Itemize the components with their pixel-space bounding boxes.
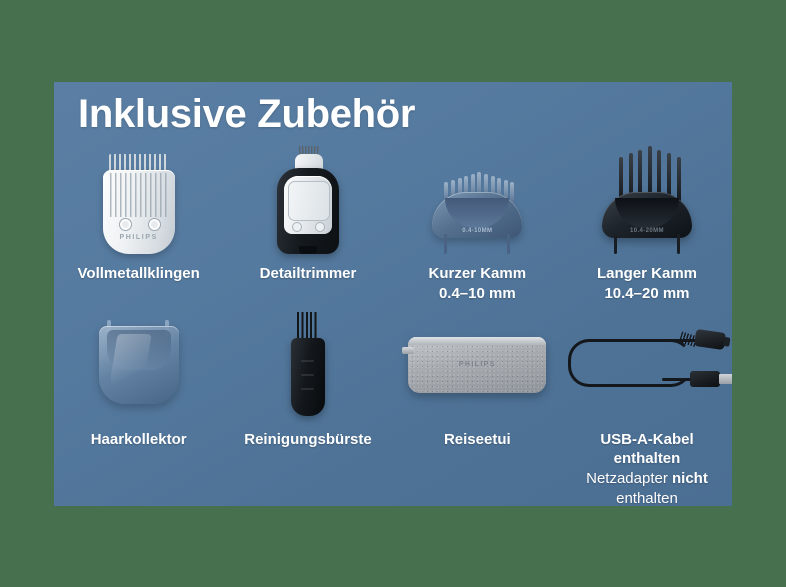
accessory-item-usb-kabel: USB-A-Kabel enthalten Netzadapter nicht … bbox=[562, 308, 732, 506]
blade-mount-hole-left bbox=[119, 218, 132, 231]
accessory-caption: Langer Kamm 10.4–20 mm bbox=[593, 264, 701, 304]
cleaning-brush-icon bbox=[223, 308, 392, 420]
accessory-item-detailtrimmer: Detailtrimmer bbox=[223, 142, 392, 304]
usb-cable-icon bbox=[562, 308, 732, 420]
accessory-caption: Haarkollektor bbox=[87, 430, 191, 450]
accessory-item-vollmetallklingen: PHILIPS Vollmetallklingen bbox=[54, 142, 223, 304]
cable-lead-bottom bbox=[662, 378, 692, 381]
comb-leg-left bbox=[444, 234, 447, 254]
accessory-caption: Kurzer Kamm 0.4–10 mm bbox=[425, 264, 531, 304]
blade-brand-text: PHILIPS bbox=[103, 234, 175, 241]
accessory-caption-line1: Kurzer Kamm bbox=[429, 265, 527, 282]
trimmer-mount-hole-right bbox=[315, 222, 325, 232]
device-connector bbox=[694, 329, 726, 350]
accessory-item-haarkollektor: Haarkollektor bbox=[54, 308, 223, 506]
brush-handle bbox=[291, 338, 325, 416]
accessory-item-reinigungsbuerste: Reinigungsbürste bbox=[223, 308, 392, 506]
case-brand-text: PHILIPS bbox=[402, 361, 552, 368]
accessory-caption-line2: 10.4–20 mm bbox=[604, 285, 689, 302]
comb-leg-right bbox=[507, 234, 510, 254]
accessory-panel: Inklusive Zubehör PHILIPS Vollmetallklin… bbox=[54, 82, 732, 506]
accessory-item-reiseetui: PHILIPS Reiseetui bbox=[393, 308, 562, 506]
usb-a-plug bbox=[690, 371, 720, 387]
case-zipper-pull bbox=[402, 347, 414, 354]
accessory-caption-line2: 0.4–10 mm bbox=[439, 285, 516, 302]
short-comb-icon: 0.4-10MM bbox=[393, 142, 562, 254]
page-title: Inklusive Zubehör bbox=[78, 92, 415, 137]
comb-leg-right bbox=[677, 234, 680, 254]
accessory-grid: PHILIPS Vollmetallklingen bbox=[54, 142, 732, 506]
accessory-caption-line1: Langer Kamm bbox=[597, 265, 697, 282]
usb-caption-emphasis: nicht bbox=[672, 470, 708, 487]
blade-icon: PHILIPS bbox=[54, 142, 223, 254]
case-zipper bbox=[408, 337, 546, 345]
accessory-caption: USB-A-Kabel enthalten Netzadapter nicht … bbox=[562, 430, 732, 506]
trimmer-foot bbox=[299, 246, 317, 254]
accessory-infographic: Inklusive Zubehör PHILIPS Vollmetallklin… bbox=[0, 0, 786, 587]
brush-ridge bbox=[301, 374, 314, 376]
accessory-item-langer-kamm: 10.4-20MM Langer Kamm 10.4–20 mm bbox=[562, 142, 732, 304]
usb-caption-line2-suffix: enthalten bbox=[616, 490, 678, 506]
usb-caption-line1: USB-A-Kabel enthalten bbox=[600, 431, 693, 468]
accessory-caption: Reinigungsbürste bbox=[240, 430, 376, 450]
hair-collector-icon bbox=[54, 308, 223, 420]
long-comb-icon: 10.4-20MM bbox=[562, 142, 732, 254]
blade-slots bbox=[110, 173, 168, 217]
comb-molded-label: 10.4-20MM bbox=[598, 228, 696, 234]
blade-mount-hole-right bbox=[148, 218, 161, 231]
accessory-caption: Vollmetallklingen bbox=[74, 264, 204, 284]
detail-trimmer-icon bbox=[223, 142, 392, 254]
usb-caption-line2-prefix: Netzadapter bbox=[586, 470, 672, 487]
accessory-item-kurzer-kamm: 0.4-10MM Kurzer Kamm 0.4–10 mm bbox=[393, 142, 562, 304]
accessory-caption: Reiseetui bbox=[440, 430, 515, 450]
accessory-caption: Detailtrimmer bbox=[256, 264, 361, 284]
comb-molded-label: 0.4-10MM bbox=[428, 228, 526, 234]
travel-case-icon: PHILIPS bbox=[393, 308, 562, 420]
brush-ridge bbox=[301, 360, 314, 362]
comb-leg-left bbox=[614, 234, 617, 254]
brush-ridge bbox=[301, 388, 314, 390]
trimmer-mount-hole-left bbox=[292, 222, 302, 232]
trimmer-inner-panel bbox=[288, 181, 330, 221]
